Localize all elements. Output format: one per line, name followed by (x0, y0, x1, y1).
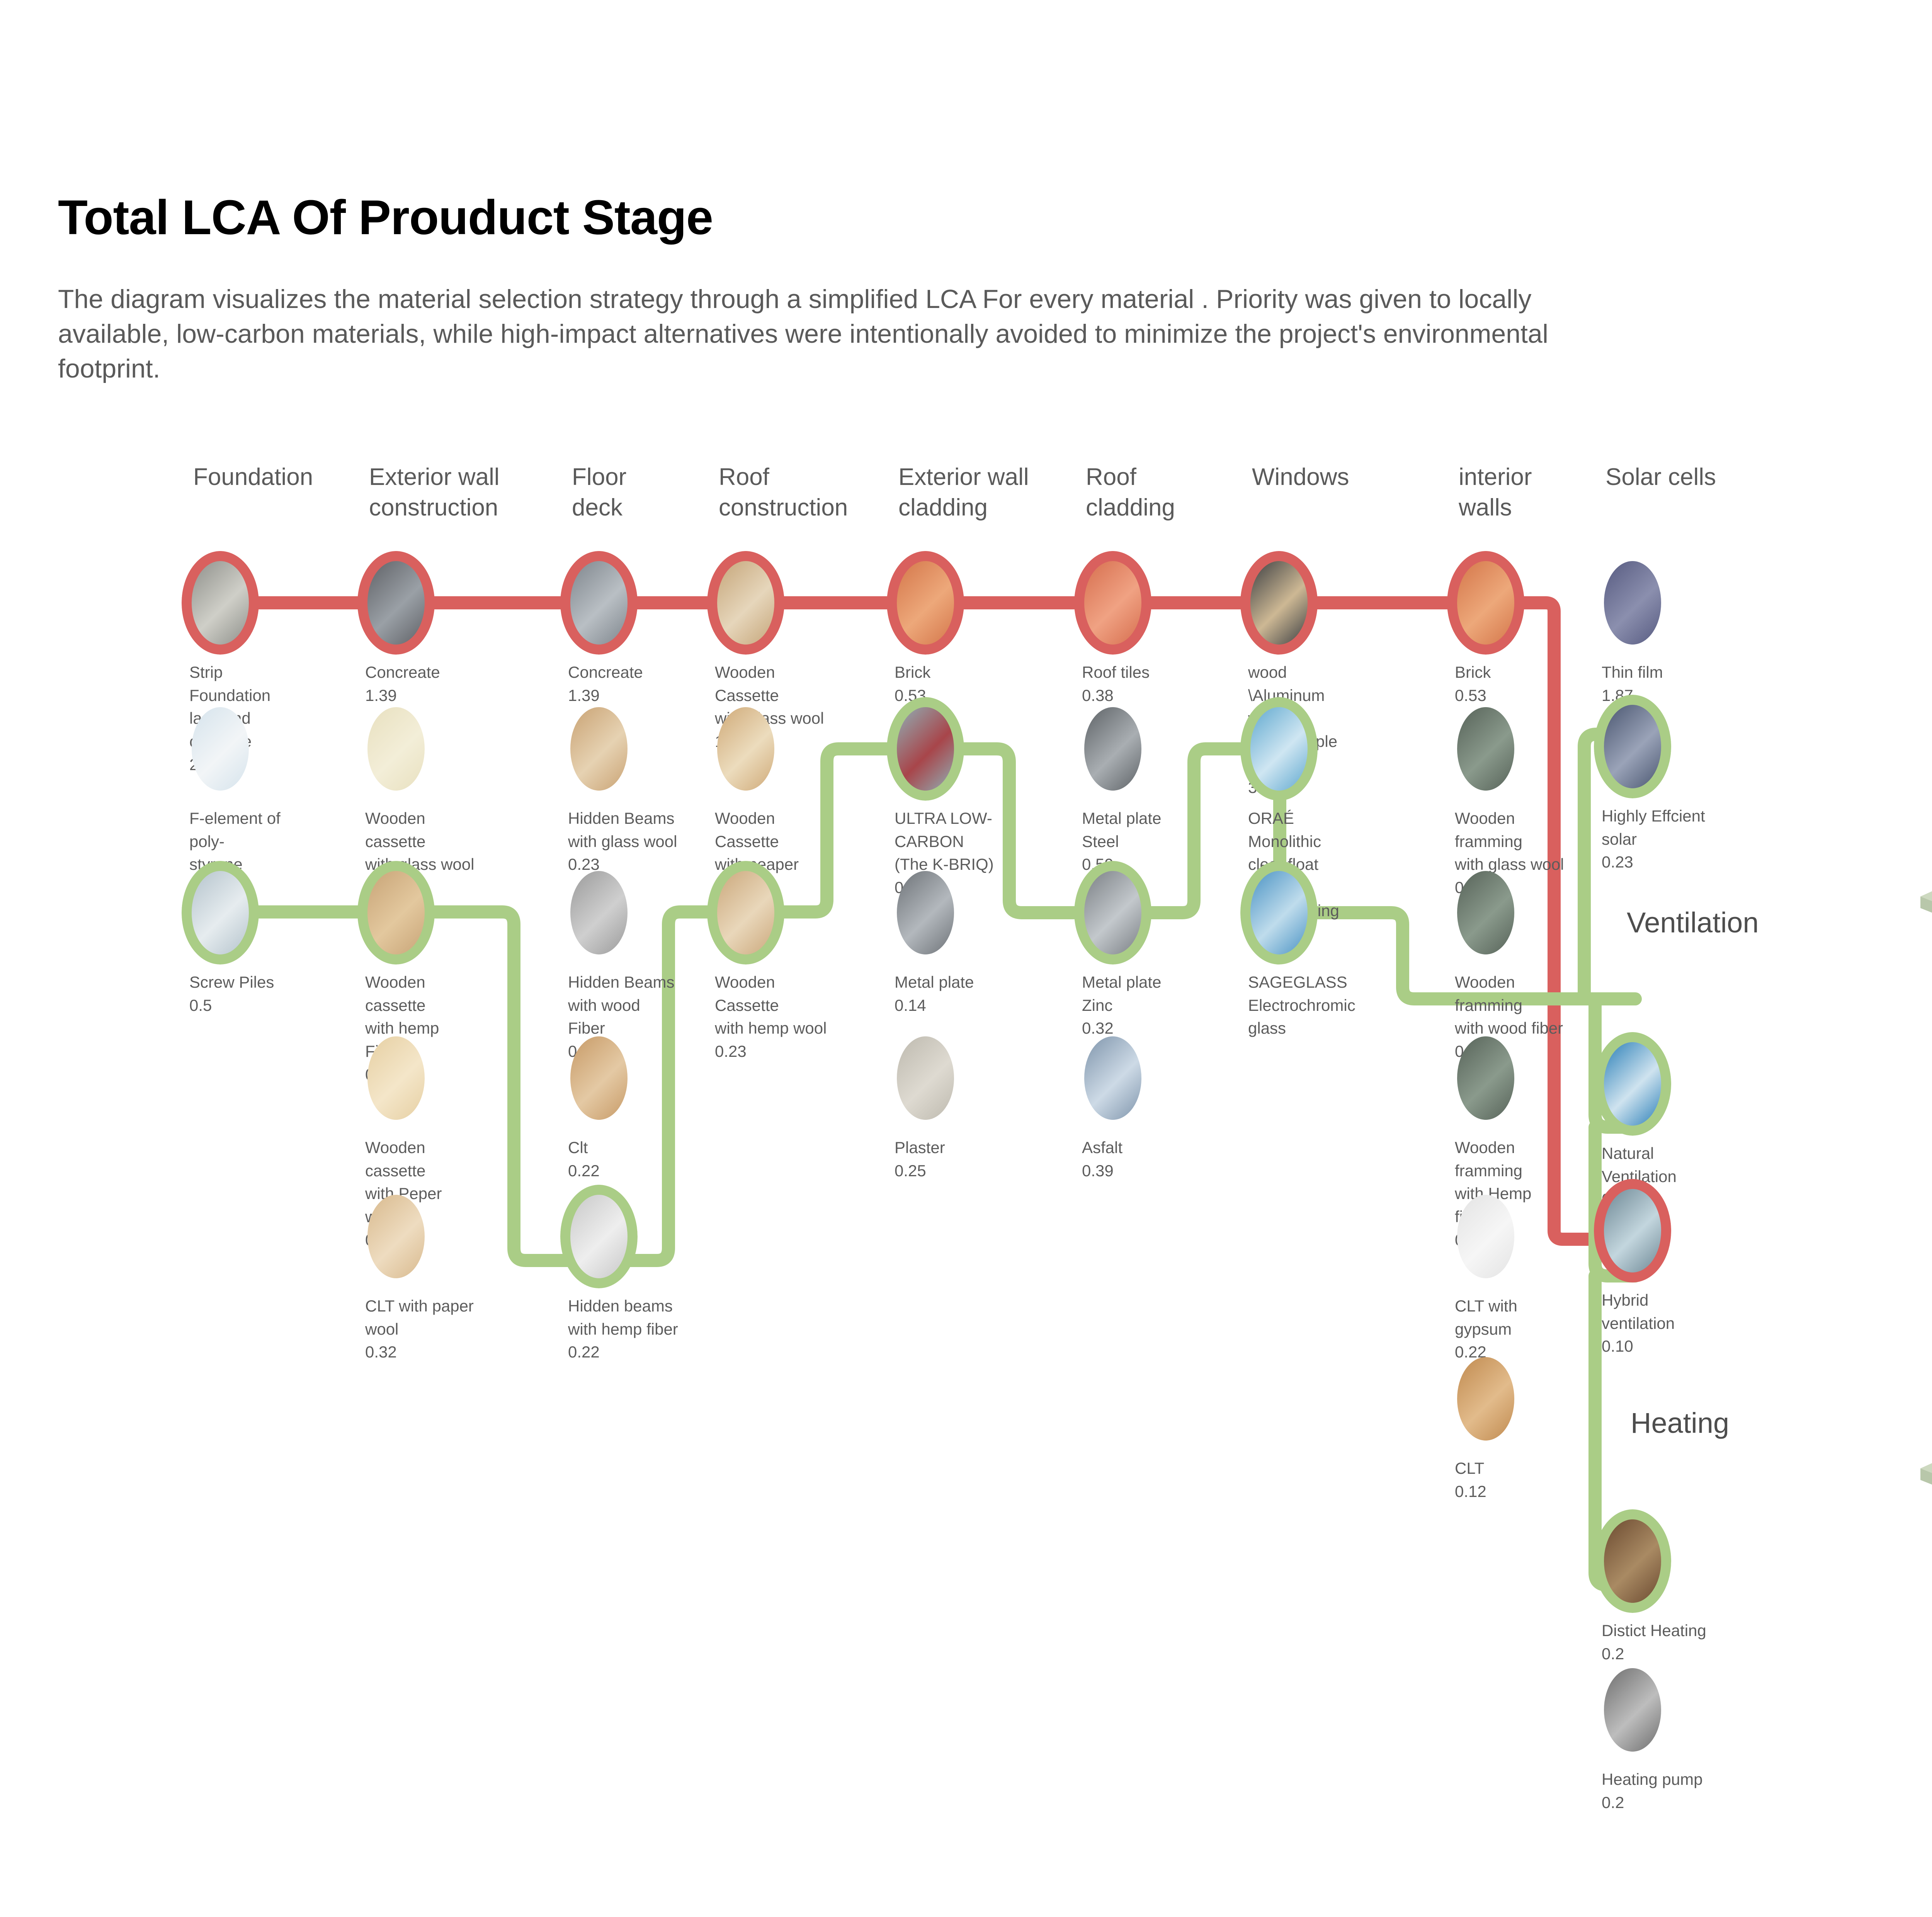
material-photo (1084, 1036, 1141, 1120)
material-photo (1250, 561, 1308, 645)
material-photo (897, 707, 954, 791)
material-thumbnail-thin-film-solar (1594, 551, 1671, 655)
material-thumbnail-asphalt-shingle (1074, 1026, 1151, 1130)
material-photo (367, 561, 425, 645)
material-thumbnail-framing-hemp-fiber (1447, 1026, 1524, 1130)
material-caption: Plaster 0.25 (844, 1136, 1007, 1182)
material-photo (367, 1036, 425, 1120)
benchmark-title: Benchmark Belgrade (1893, 541, 1932, 576)
material-photo (367, 871, 425, 954)
material-thumbnail-metal-zinc (1074, 861, 1151, 964)
material-caption: Hidden beams with hemp fiber 0.22 (518, 1294, 680, 1364)
material-thumbnail-orae-glass (1240, 697, 1318, 801)
column-header-interior-walls: interior walls (1459, 462, 1532, 523)
column-header-solar-cells: Solar cells (1605, 462, 1716, 492)
material-photo (192, 871, 249, 954)
column-header-roof-construction: Roof construction (719, 462, 848, 523)
material-photo (1604, 1668, 1661, 1752)
material-thumbnail-natural-ventilation-window (1594, 1032, 1671, 1136)
material-photo (367, 707, 425, 791)
material-thumbnail-clt-paper-wool (357, 1185, 435, 1288)
material-photo (717, 871, 774, 954)
column-header-exterior-wall-cladding: Exterior wall cladding (898, 462, 1029, 523)
material-photo (1457, 561, 1514, 645)
material-photo (1084, 871, 1141, 954)
material-photo (570, 871, 628, 954)
material-thumbnail-district-heating-pipes (1594, 1509, 1671, 1613)
material-caption: Clt 0.22 (518, 1136, 680, 1182)
proposal-title: the innovative proposal (1893, 1109, 1932, 1144)
material-thumbnail-k-briq (887, 697, 964, 801)
material-photo (570, 707, 628, 791)
material-thumbnail-hidden-beams-glass (560, 697, 638, 801)
material-thumbnail-paper-wool (357, 1026, 435, 1130)
material-photo (897, 871, 954, 954)
material-thumbnail-polystyrene-formwork (182, 697, 259, 801)
material-photo (1457, 1036, 1514, 1120)
material-thumbnail-hidden-beams-hemp (560, 1185, 638, 1288)
material-thumbnail-duct-ventilation (1594, 1179, 1671, 1283)
material-thumbnail-heat-pump (1594, 1658, 1671, 1762)
material-photo (1604, 1189, 1661, 1272)
material-caption: CLT 0.12 (1405, 1457, 1567, 1503)
material-caption: Screw Piles 0.5 (139, 971, 301, 1017)
material-thumbnail-foundation-strip (182, 551, 259, 655)
lca-diagram: .red{ fill:none; stroke:#d9605e; stroke-… (0, 0, 1893, 1917)
material-photo (1604, 561, 1661, 645)
material-thumbnail-plaster (887, 1026, 964, 1130)
comparison-panel: Benchmark Belgrade (1893, 0, 1932, 1917)
material-thumbnail-framing-wood-fiber (1447, 861, 1524, 964)
material-thumbnail-metal-plate (887, 861, 964, 964)
material-thumbnail-roof-tiles (1074, 551, 1151, 655)
material-thumbnail-cassette-paper-wool (707, 697, 784, 801)
material-photo (367, 1195, 425, 1278)
material-caption: Metal plate 0.14 (844, 971, 1007, 1017)
material-thumbnail-concrete-wall (357, 551, 435, 655)
material-photo (1457, 1357, 1514, 1441)
material-photo (1604, 1042, 1661, 1126)
material-photo (717, 707, 774, 791)
material-thumbnail-cassette-hemp-wool (707, 861, 784, 964)
material-photo (897, 561, 954, 645)
material-caption: Asfalt 0.39 (1032, 1136, 1194, 1182)
material-thumbnail-efficient-solar (1594, 695, 1671, 798)
material-photo (1084, 561, 1141, 645)
material-photo (1604, 1519, 1661, 1603)
material-photo (1457, 707, 1514, 791)
column-header-floor-deck: Floor deck (572, 462, 626, 523)
section-title-ventilation: Ventilation (1627, 906, 1759, 939)
material-thumbnail-hemp-cassette (357, 861, 435, 964)
material-thumbnail-glass-wool-batt (357, 697, 435, 801)
material-thumbnail-clt-gypsum (1447, 1185, 1524, 1288)
material-photo (1457, 871, 1514, 954)
material-photo (1250, 707, 1308, 791)
material-caption: Highly Effcient solar 0.23 (1551, 805, 1714, 874)
material-thumbnail-clt-room (1447, 1347, 1524, 1451)
material-photo (192, 561, 249, 645)
column-header-roof-cladding: Roof cladding (1086, 462, 1175, 523)
material-caption: SAGEGLASS Electrochromic glass (1198, 971, 1360, 1040)
material-photo (570, 561, 628, 645)
material-thumbnail-framing-glass-wool (1447, 697, 1524, 801)
material-photo (897, 1036, 954, 1120)
material-thumbnail-wood-alu-window (1240, 551, 1318, 655)
column-header-windows: Windows (1252, 462, 1349, 492)
material-photo (570, 1195, 628, 1278)
material-photo (1604, 705, 1661, 788)
material-thumbnail-brick-interior (1447, 551, 1524, 655)
column-header-foundation: Foundation (193, 462, 313, 492)
material-caption: Hybrid ventilation 0.10 (1551, 1289, 1714, 1358)
material-photo (717, 561, 774, 645)
material-photo (1250, 871, 1308, 954)
material-caption: CLT with paper wool 0.32 (315, 1294, 477, 1364)
proposal-render (1909, 1175, 1932, 1600)
material-photo (570, 1036, 628, 1120)
section-title-heating: Heating (1631, 1407, 1729, 1439)
material-thumbnail-sageglass (1240, 861, 1318, 964)
column-header-exterior-wall-construction: Exterior wall construction (369, 462, 500, 523)
material-photo (1084, 707, 1141, 791)
material-thumbnail-metal-steel (1074, 697, 1151, 801)
material-photo (1457, 1195, 1514, 1278)
material-photo (192, 707, 249, 791)
benchmark-render (1909, 603, 1932, 1028)
material-thumbnail-brick-wall (887, 551, 964, 655)
material-thumbnail-concrete-slab (560, 551, 638, 655)
material-thumbnail-hidden-beams-wood (560, 861, 638, 964)
material-caption: Wooden Cassette with hemp wool 0.23 (665, 971, 827, 1063)
material-thumbnail-clt-interior (560, 1026, 638, 1130)
material-thumbnail-wooden-cassette-glass (707, 551, 784, 655)
material-thumbnail-screw-piles (182, 861, 259, 964)
material-caption: Heating pump 0.2 (1551, 1768, 1714, 1814)
